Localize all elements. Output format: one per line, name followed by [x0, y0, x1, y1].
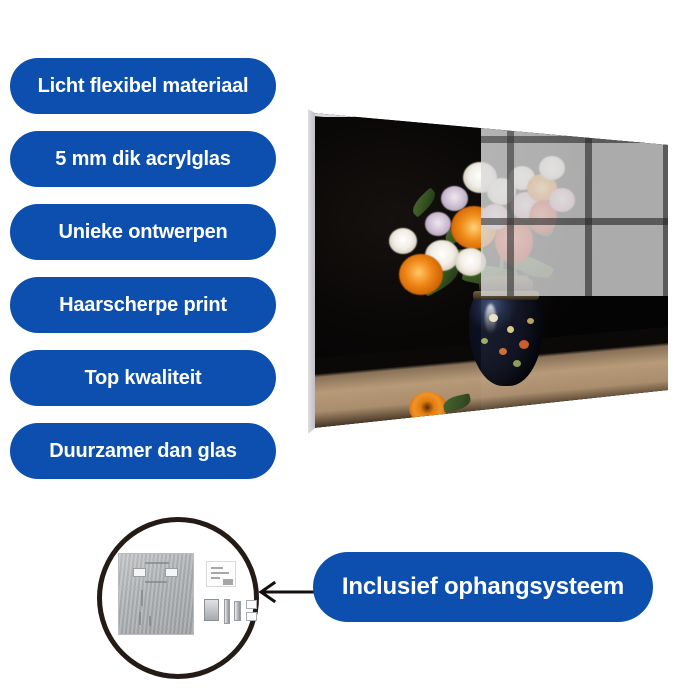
feature-pill-label: Duurzamer dan glas	[49, 441, 237, 462]
feature-pill-duurzamer-dan-glas[interactable]: Duurzamer dan glas	[10, 423, 276, 479]
callout-pill-inclusief-ophangsysteem[interactable]: Inclusief ophangsysteem	[313, 552, 653, 622]
bracket-clip-right	[165, 568, 178, 577]
feature-pill-label: Unieke ontwerpen	[58, 222, 227, 243]
feature-pill-haarscherpe-print[interactable]: Haarscherpe print	[10, 277, 276, 333]
product-feature-graphic: Licht flexibel materiaal 5 mm dik acrylg…	[0, 0, 700, 700]
window-reflection	[481, 100, 675, 296]
acrylic-panel	[306, 100, 678, 445]
callout-pill-label: Inclusief ophangsysteem	[342, 574, 624, 599]
mounting-plate	[118, 553, 194, 635]
feature-pill-label: Licht flexibel materiaal	[38, 76, 249, 97]
feature-pill-licht-flexibel-materiaal[interactable]: Licht flexibel materiaal	[10, 58, 276, 114]
spacer-pad-bottom	[246, 612, 257, 621]
feature-pill-top-kwaliteit[interactable]: Top kwaliteit	[10, 350, 276, 406]
artwork-image	[313, 100, 668, 445]
feature-pill-label: Top kwaliteit	[84, 368, 201, 389]
feature-pill-label: 5 mm dik acrylglas	[55, 149, 230, 170]
callout-connector	[252, 578, 322, 606]
bracket-clip-left	[133, 568, 146, 577]
wall-anchor	[234, 601, 241, 621]
feature-pill-label: Haarscherpe print	[59, 295, 227, 316]
panel-face	[306, 100, 678, 445]
screw	[224, 599, 230, 624]
fallen-flower	[409, 392, 447, 424]
panel-top-edge	[311, 107, 669, 117]
wall-plug	[204, 599, 219, 621]
feature-pill-unieke-ontwerpen[interactable]: Unieke ontwerpen	[10, 204, 276, 260]
mounting-hardware-parts	[118, 553, 250, 643]
feature-pill-5-mm-dik-acrylglas[interactable]: 5 mm dik acrylglas	[10, 131, 276, 187]
instruction-leaflet	[206, 561, 236, 587]
